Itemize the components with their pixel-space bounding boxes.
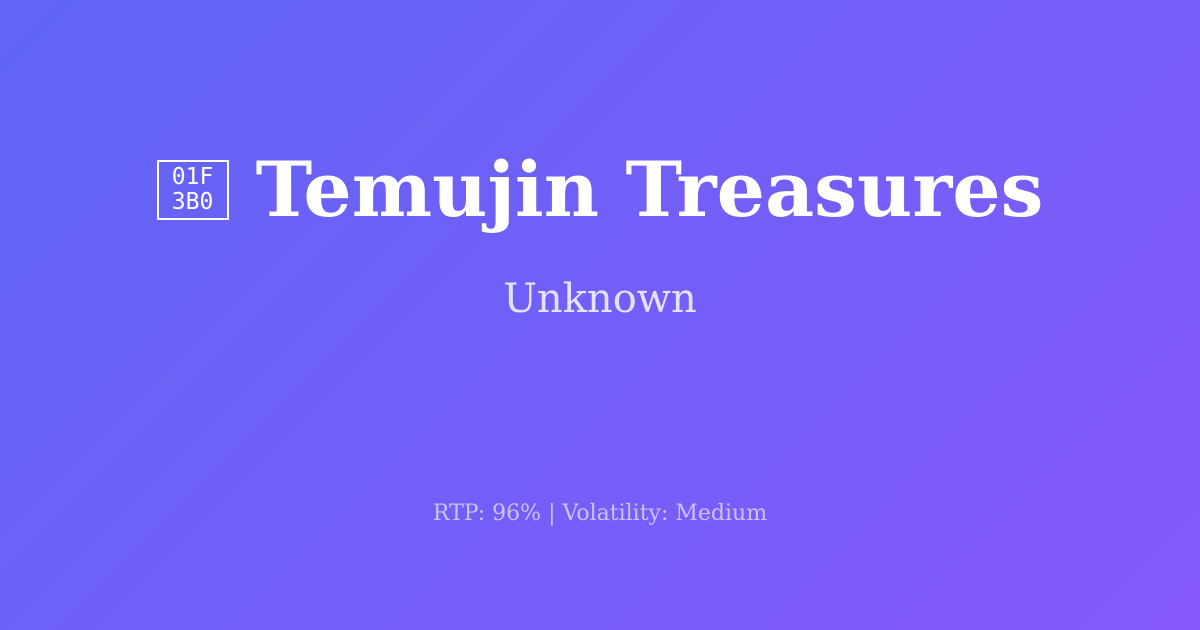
slot-machine-icon-hex-top: 01F bbox=[172, 165, 214, 190]
game-stats-line: RTP: 96% | Volatility: Medium bbox=[433, 500, 767, 528]
page-title: Temujin Treasures bbox=[256, 147, 1044, 233]
title-row: 01F 3B0 Temujin Treasures bbox=[0, 147, 1200, 233]
og-card: 01F 3B0 Temujin Treasures Unknown RTP: 9… bbox=[0, 0, 1200, 630]
card-footer: RTP: 96% | Volatility: Medium bbox=[0, 470, 1200, 630]
game-provider-subtitle: Unknown bbox=[503, 275, 697, 323]
slot-machine-icon: 01F 3B0 bbox=[157, 160, 229, 220]
slot-machine-icon-hex-bottom: 3B0 bbox=[172, 190, 214, 215]
card-body: 01F 3B0 Temujin Treasures Unknown bbox=[0, 0, 1200, 470]
